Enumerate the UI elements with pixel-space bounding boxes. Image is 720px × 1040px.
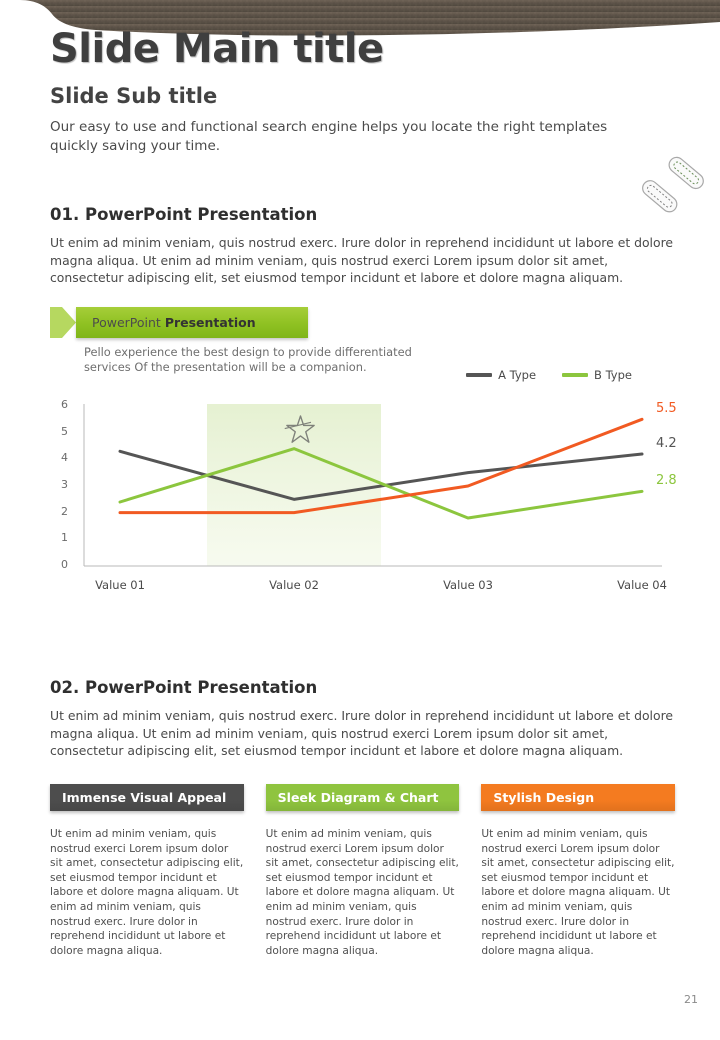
x-tick-label: Value 01: [75, 578, 165, 592]
section-heading-01: 01. PowerPoint Presentation: [50, 205, 317, 224]
chevron-right-icon: [50, 307, 76, 338]
banner-label-bold: Presentation: [165, 315, 256, 330]
chart-legend: A Type B Type: [466, 368, 632, 382]
data-label-c-type: 5.5: [656, 401, 677, 416]
card-body: Ut enim ad minim veniam, quis nostrud ex…: [50, 827, 244, 958]
legend-item-a-type[interactable]: A Type: [466, 368, 536, 382]
intro-paragraph: Our easy to use and functional search en…: [50, 118, 630, 156]
x-tick-label: Value 02: [249, 578, 339, 592]
card-header-stylish-design[interactable]: Stylish Design: [481, 784, 675, 811]
feature-card: Stylish Design Ut enim ad minim veniam, …: [481, 784, 675, 958]
chart-plot-area: 0123456 Value 01Value 02Value 03Value 04…: [50, 398, 690, 603]
legend-swatch-b-type: [562, 373, 588, 377]
y-tick-label: 2: [50, 505, 68, 518]
banner-label-light: PowerPoint: [92, 315, 165, 330]
paperclip-icon: [610, 145, 710, 225]
card-header-sleek-diagram-chart[interactable]: Sleek Diagram & Chart: [266, 784, 460, 811]
powerpoint-presentation-banner[interactable]: PowerPoint Presentation: [50, 307, 308, 338]
y-tick-label: 4: [50, 451, 68, 464]
feature-card: Sleek Diagram & Chart Ut enim ad minim v…: [266, 784, 460, 958]
y-tick-label: 3: [50, 478, 68, 491]
y-tick-label: 1: [50, 531, 68, 544]
feature-card: Immense Visual Appeal Ut enim ad minim v…: [50, 784, 244, 958]
y-tick-label: 0: [50, 558, 68, 571]
line-chart: A Type B Type 0123456: [50, 360, 690, 605]
banner-label: PowerPoint Presentation: [76, 315, 256, 330]
section-paragraph-01: Ut enim ad minim veniam, quis nostrud ex…: [50, 234, 675, 287]
data-label-b-type: 2.8: [656, 473, 677, 488]
data-label-a-type: 4.2: [656, 436, 677, 451]
legend-item-b-type[interactable]: B Type: [562, 368, 632, 382]
card-body: Ut enim ad minim veniam, quis nostrud ex…: [266, 827, 460, 958]
y-tick-label: 5: [50, 425, 68, 438]
card-title: Sleek Diagram & Chart: [278, 790, 439, 805]
legend-label-a-type: A Type: [498, 368, 536, 382]
card-body: Ut enim ad minim veniam, quis nostrud ex…: [481, 827, 675, 958]
legend-label-b-type: B Type: [594, 368, 632, 382]
banner-body: PowerPoint Presentation: [76, 307, 308, 338]
chart-svg: [50, 398, 690, 603]
card-header-immense-visual-appeal[interactable]: Immense Visual Appeal: [50, 784, 244, 811]
page-subtitle: Slide Sub title: [50, 84, 217, 108]
legend-swatch-a-type: [466, 373, 492, 377]
card-title: Stylish Design: [493, 790, 594, 805]
card-title: Immense Visual Appeal: [62, 790, 226, 805]
section-paragraph-02: Ut enim ad minim veniam, quis nostrud ex…: [50, 707, 675, 760]
x-tick-label: Value 04: [597, 578, 687, 592]
feature-cards: Immense Visual Appeal Ut enim ad minim v…: [50, 784, 675, 958]
section-heading-02: 02. PowerPoint Presentation: [50, 678, 317, 697]
x-tick-label: Value 03: [423, 578, 513, 592]
y-tick-label: 6: [50, 398, 68, 411]
page-number: 21: [684, 993, 698, 1006]
page-title: Slide Main title: [50, 26, 384, 72]
